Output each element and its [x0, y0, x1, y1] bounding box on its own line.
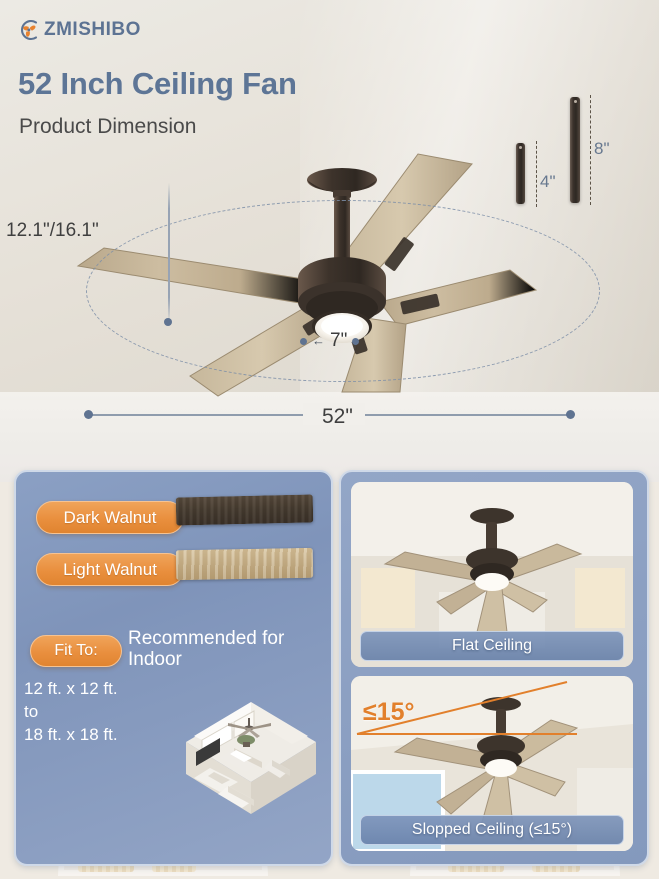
finish-label: Dark Walnut — [64, 508, 157, 528]
ceiling-fan-illustration — [70, 150, 610, 400]
blade-width-dot-right — [352, 338, 359, 345]
max-angle-label: ≤15° — [363, 698, 415, 727]
blade-sweep-ellipse — [86, 200, 600, 382]
finish-label: Light Walnut — [63, 560, 157, 580]
room-size-text: 12 ft. x 12 ft. to 18 ft. x 18 ft. — [24, 678, 118, 747]
room-size-line: 12 ft. x 12 ft. — [24, 678, 118, 701]
swatch-dark-walnut — [176, 494, 314, 525]
downrod-8in-label: 8" — [594, 139, 610, 159]
product-infographic: ZMISHIBO 52 Inch Ceiling Fan Product Dim… — [0, 0, 659, 879]
downrod-4in-label: 4" — [540, 172, 556, 192]
sloped-ceiling-label: Slopped Ceiling (≤15°) — [360, 815, 624, 845]
finish-option-dark-walnut[interactable]: Dark Walnut — [36, 501, 184, 534]
span-dimension-dot-right — [566, 410, 575, 419]
room-size-line: to — [24, 701, 118, 724]
flat-ceiling-label: Flat Ceiling — [360, 631, 624, 661]
fit-to-badge: Fit To: — [30, 635, 122, 667]
arrow-left-icon: ← — [312, 333, 325, 348]
height-dimension-dot — [164, 318, 172, 326]
downrod-4in-guide — [536, 141, 537, 207]
blade-width-dimension: ← 7" — [300, 330, 359, 352]
sloped-ceiling-card: ≤15° Slopped Ceiling (≤15°) — [351, 676, 633, 851]
flat-ceiling-label-wrap: Flat Ceiling — [351, 631, 633, 661]
swatch-light-walnut — [176, 548, 314, 580]
downrod-8in — [570, 97, 580, 203]
blade-width-label: 7" — [330, 330, 347, 352]
fan-logo-icon — [16, 18, 40, 42]
downrod-4in — [516, 143, 525, 204]
brand-name: ZMISHIBO — [44, 19, 141, 41]
brand-logo: ZMISHIBO — [16, 18, 141, 42]
sloped-ceiling-label-wrap: Slopped Ceiling (≤15°) — [351, 815, 633, 845]
downrod-8in-guide — [590, 95, 591, 205]
isometric-room-illustration — [176, 690, 326, 825]
blade-width-dot-left — [300, 338, 307, 345]
flat-ceiling-card: Flat Ceiling — [351, 482, 633, 667]
span-dimension-label: 52" — [322, 405, 353, 429]
height-dimension-label: 12.1"/16.1" — [6, 220, 99, 242]
recommendation-text: Recommended for Indoor — [128, 628, 313, 671]
room-size-line: 18 ft. x 18 ft. — [24, 724, 118, 747]
page-title: 52 Inch Ceiling Fan — [18, 66, 297, 102]
height-dimension-line — [168, 183, 170, 323]
span-dimension-dot-left — [84, 410, 93, 419]
finish-option-light-walnut[interactable]: Light Walnut — [36, 553, 184, 586]
page-subtitle: Product Dimension — [19, 115, 196, 139]
fit-to-label: Fit To: — [54, 642, 97, 660]
